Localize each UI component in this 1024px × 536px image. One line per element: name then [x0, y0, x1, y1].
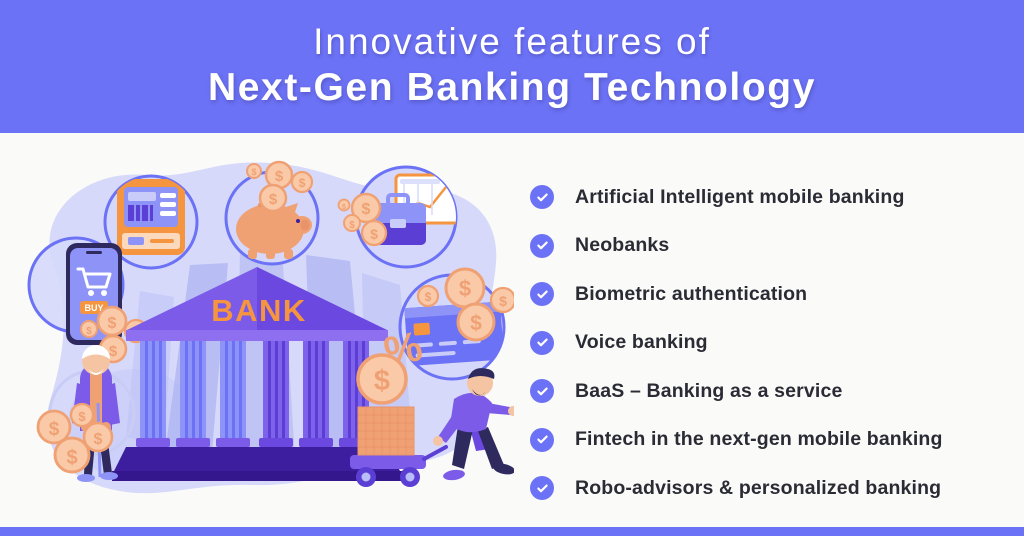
list-item[interactable]: Voice banking: [530, 319, 1016, 368]
header-band: Innovative features of Next-Gen Banking …: [0, 0, 1024, 133]
page-title-line-2: Next-Gen Banking Technology: [208, 65, 816, 111]
check-circle-icon: [530, 185, 554, 209]
bottom-accent-bar: [0, 527, 1024, 536]
svg-text:$: $: [94, 431, 103, 448]
check-circle-icon: [530, 234, 554, 258]
coin-stack: [358, 407, 414, 455]
svg-text:$: $: [459, 276, 471, 301]
svg-text:$: $: [370, 226, 378, 242]
svg-text:$: $: [49, 419, 60, 440]
list-item[interactable]: Biometric authentication: [530, 270, 1016, 319]
bank-sign-label: BANK: [211, 293, 307, 328]
list-item[interactable]: Robo-advisors & personalized banking: [530, 464, 1016, 513]
feature-label: Artificial Intelligent mobile banking: [575, 186, 905, 209]
list-item[interactable]: Fintech in the next-gen mobile banking: [530, 416, 1016, 465]
svg-text:$: $: [251, 167, 256, 177]
list-item[interactable]: Neobanks: [530, 222, 1016, 271]
svg-text:$: $: [109, 343, 118, 360]
check-circle-icon: [530, 379, 554, 403]
check-circle-icon: [530, 331, 554, 355]
feature-label: Neobanks: [575, 234, 669, 257]
next-gen-banking-illustration: $ $ $ $: [14, 145, 514, 515]
check-circle-icon: [530, 428, 554, 452]
svg-text:$: $: [269, 191, 278, 208]
check-circle-icon: [530, 282, 554, 306]
svg-text:$: $: [342, 204, 346, 211]
infographic-root: Innovative features of Next-Gen Banking …: [0, 0, 1024, 536]
svg-text:$: $: [349, 220, 355, 231]
svg-text:$: $: [86, 326, 92, 337]
feature-label: BaaS – Banking as a service: [575, 380, 842, 403]
page-title-line-1: Innovative features of: [313, 22, 711, 62]
feature-label: Biometric authentication: [575, 283, 807, 306]
svg-text:$: $: [499, 293, 507, 309]
feature-label: Robo-advisors & personalized banking: [575, 477, 941, 500]
list-item[interactable]: BaaS – Banking as a service: [530, 367, 1016, 416]
svg-text:$: $: [275, 168, 284, 185]
svg-text:$: $: [470, 312, 482, 335]
svg-text:$: $: [425, 290, 432, 304]
svg-text:$: $: [374, 365, 390, 397]
svg-text:$: $: [66, 447, 77, 469]
svg-text:$: $: [78, 409, 86, 424]
svg-text:$: $: [362, 201, 371, 218]
svg-text:$: $: [299, 176, 306, 190]
feature-label: Voice banking: [575, 331, 708, 354]
svg-text:$: $: [108, 315, 117, 332]
body-area: $ $ $ $: [0, 133, 1024, 527]
feature-list: Artificial Intelligent mobile banking Ne…: [530, 173, 1016, 513]
check-circle-icon: [530, 476, 554, 500]
list-item[interactable]: Artificial Intelligent mobile banking: [530, 173, 1016, 222]
feature-label: Fintech in the next-gen mobile banking: [575, 428, 943, 451]
